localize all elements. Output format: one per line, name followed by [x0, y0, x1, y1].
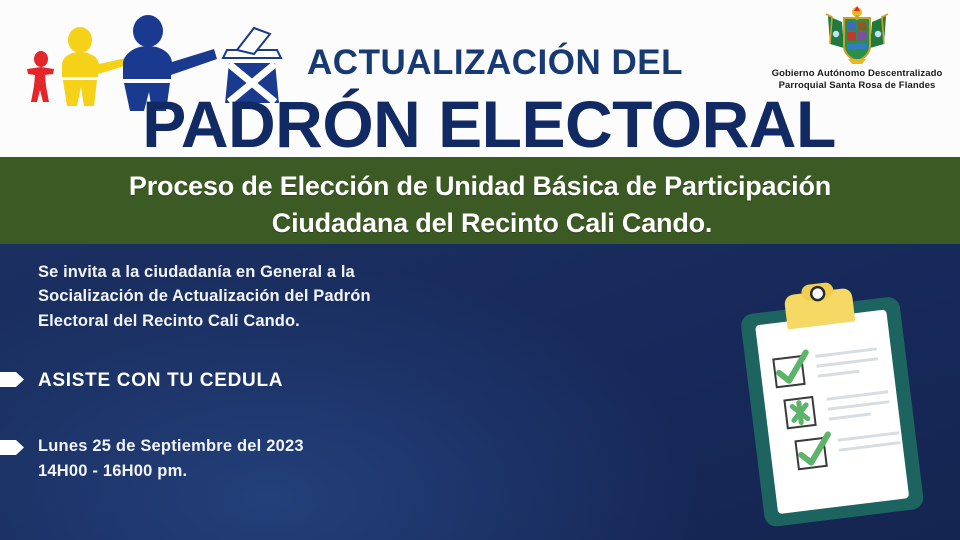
event-time: 14H00 - 16H00 pm.	[38, 459, 304, 484]
invitation-line2: Socialización de Actualización del Padró…	[38, 284, 458, 308]
green-banner-line1: Proceso de Elección de Unidad Básica de …	[0, 168, 960, 205]
clipboard-svg	[718, 280, 958, 540]
poster-main-title: PADRÓN ELECTORAL	[0, 90, 960, 158]
gad-logo: Gobierno Autónomo Descentralizado Parroq…	[764, 4, 950, 92]
coat-of-arms-shield	[818, 4, 896, 66]
pennant-arrow-icon-2	[0, 440, 24, 455]
asiste-con-cedula-text: ASISTE CON TU CEDULA	[38, 370, 283, 392]
electoral-poster: ACTUALIZACIÓN DEL PADRÓN ELECTORAL	[0, 0, 960, 540]
invitation-line1: Se invita a la ciudadanía en General a l…	[38, 260, 458, 284]
poster-header: ACTUALIZACIÓN DEL PADRÓN ELECTORAL	[0, 0, 960, 158]
poster-body: Se invita a la ciudadanía en General a l…	[0, 244, 960, 540]
green-banner: Proceso de Elección de Unidad Básica de …	[0, 157, 960, 244]
event-date: Lunes 25 de Septiembre del 2023	[38, 434, 304, 459]
invitation-line3: Electoral del Recinto Cali Cando.	[38, 309, 458, 333]
pennant-arrow-icon	[0, 372, 24, 387]
green-banner-line2: Ciudadana del Recinto Cali Cando.	[0, 205, 960, 242]
gad-logo-line2: Parroquial Santa Rosa de Flandes	[764, 80, 950, 92]
checklist-clipboard-illustration	[718, 280, 958, 540]
invitation-paragraph: Se invita a la ciudadanía en General a l…	[38, 260, 458, 333]
gad-logo-line1: Gobierno Autónomo Descentralizado	[764, 68, 950, 80]
event-datetime: Lunes 25 de Septiembre del 2023 14H00 - …	[38, 434, 304, 484]
